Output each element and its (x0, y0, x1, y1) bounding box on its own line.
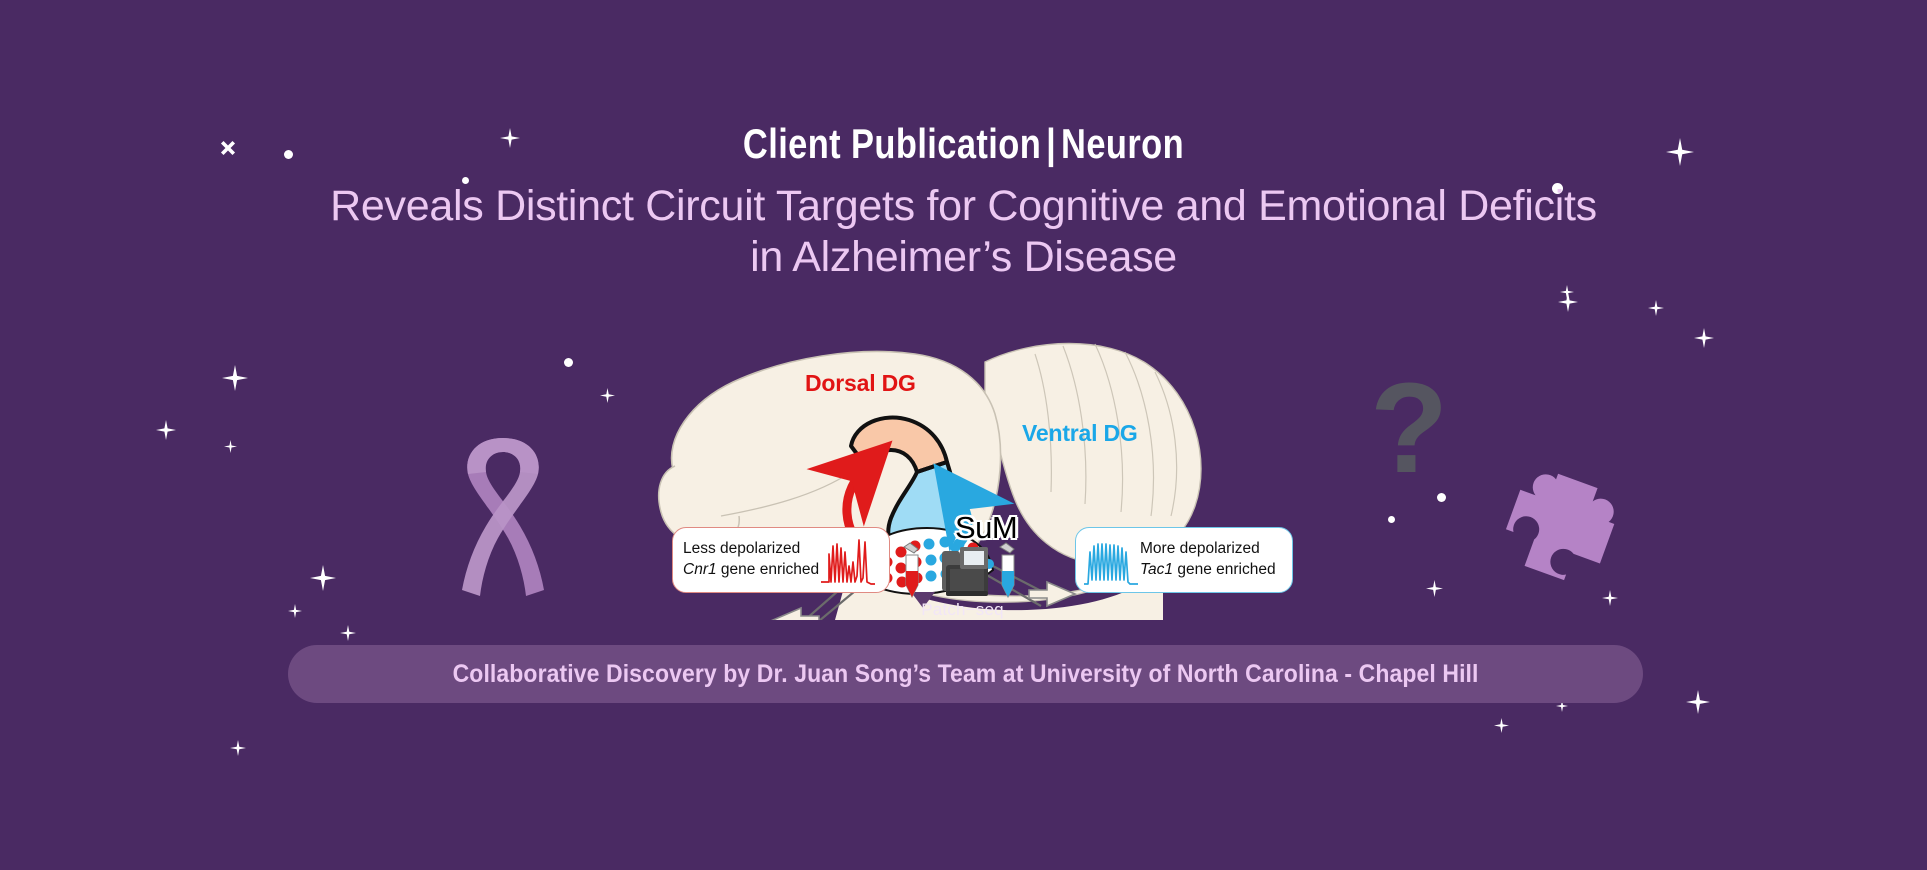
star-sparkle-icon (1426, 580, 1443, 597)
star-dot-icon (564, 358, 573, 367)
star-dot-icon (1388, 516, 1395, 523)
question-mark-icon: ? (1370, 365, 1448, 493)
callout-left-line2-rest: gene enriched (717, 561, 820, 578)
patch-seq-label: Patch−seq (880, 600, 1045, 620)
header-block: Client Publication|Neuron Reveals Distin… (0, 120, 1927, 283)
dorsal-dg-label: Dorsal DG (805, 370, 916, 397)
star-sparkle-icon (224, 440, 237, 453)
star-sparkle-icon (1648, 300, 1664, 316)
awareness-ribbon-icon (448, 430, 558, 600)
kicker-left-text: Client Publication (743, 120, 1041, 167)
star-sparkle-icon (1560, 285, 1574, 299)
callout-left-gene: Cnr1 (683, 561, 717, 578)
star-sparkle-icon (222, 365, 248, 391)
star-sparkle-icon (1602, 590, 1618, 606)
puzzle-piece-icon (1495, 470, 1615, 588)
spike-trace-blue-icon (1082, 532, 1140, 588)
star-sparkle-icon (340, 625, 356, 641)
star-sparkle-icon (288, 604, 302, 618)
star-sparkle-icon (1558, 292, 1578, 312)
kicker-divider: | (1041, 120, 1061, 167)
callout-right-line1: More depolarized (1140, 540, 1260, 557)
star-sparkle-icon (156, 420, 176, 440)
subtitle-line-1: Reveals Distinct Circuit Targets for Cog… (330, 182, 1597, 230)
callout-right-text: More depolarized Tac1 gene enriched (1140, 539, 1276, 581)
tube-red-icon (904, 543, 918, 597)
star-sparkle-icon (1686, 690, 1710, 714)
attribution-text: Collaborative Discovery by Dr. Juan Song… (453, 660, 1479, 689)
tube-blue-icon (1000, 543, 1014, 597)
subtitle-line-2: in Alzheimer’s Disease (0, 232, 1927, 283)
star-sparkle-icon (310, 565, 336, 591)
callout-box-left: Less depolarized Cnr1 gene enriched (672, 527, 890, 593)
poster-canvas: ? Client Publication|Neuron Reveals Dist… (0, 0, 1927, 870)
callout-right-gene: Tac1 (1140, 561, 1173, 578)
star-sparkle-icon (230, 740, 246, 756)
kicker-line: Client Publication|Neuron (173, 120, 1753, 167)
ventral-dg-label: Ventral DG (1022, 420, 1138, 447)
star-sparkle-icon (600, 388, 615, 403)
callout-left-line1: Less depolarized (683, 540, 800, 557)
kicker-right-text: Neuron (1061, 120, 1184, 167)
page-title: Reveals Distinct Circuit Targets for Cog… (0, 181, 1927, 282)
callout-left-text: Less depolarized Cnr1 gene enriched (683, 539, 819, 581)
sequencer-machine-icon (942, 547, 988, 596)
star-sparkle-icon (1494, 718, 1509, 733)
callout-right-line2-rest: gene enriched (1173, 561, 1276, 578)
star-sparkle-icon (1694, 328, 1714, 348)
spike-trace-red-icon (819, 532, 877, 588)
callout-box-right: More depolarized Tac1 gene enriched (1075, 527, 1293, 593)
attribution-banner: Collaborative Discovery by Dr. Juan Song… (288, 645, 1643, 703)
